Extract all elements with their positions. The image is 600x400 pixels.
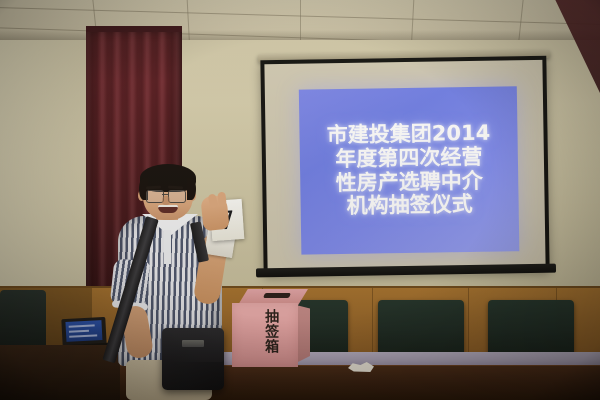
desk-left-section <box>0 345 120 400</box>
glasses-lens-right <box>168 190 186 203</box>
mouth <box>158 205 178 213</box>
projection-screen: 市建投集团2014 年度第四次经营 性房产选聘中介 机构抽签仪式 <box>260 56 549 274</box>
chair-3 <box>488 300 574 354</box>
slide-line-3: 性房产选聘中介 <box>336 170 483 194</box>
bag-logo <box>182 340 204 347</box>
photo-scene: 市建投集团2014 年度第四次经营 性房产选聘中介 机构抽签仪式 <box>0 0 600 400</box>
messenger-bag <box>162 328 224 390</box>
slide-line-2: 年度第四次经营 <box>335 147 482 171</box>
curtain-rod <box>86 26 182 32</box>
slide-line-1: 市建投集团2014 <box>327 123 491 147</box>
slide-line-4: 机构抽签仪式 <box>346 194 472 218</box>
nose <box>162 196 170 205</box>
laptop-screen <box>65 320 102 342</box>
hair-side-right <box>187 178 196 200</box>
chair-4 <box>0 290 46 352</box>
left-wall <box>0 40 90 290</box>
finger-2 <box>217 192 226 207</box>
chair-2 <box>378 300 464 354</box>
ballot-box-side <box>296 305 310 363</box>
presentation-slide: 市建投集团2014 年度第四次经营 性房产选聘中介 机构抽签仪式 <box>299 86 520 254</box>
presenter: 7 <box>110 160 280 400</box>
shirt-placket <box>164 230 171 264</box>
